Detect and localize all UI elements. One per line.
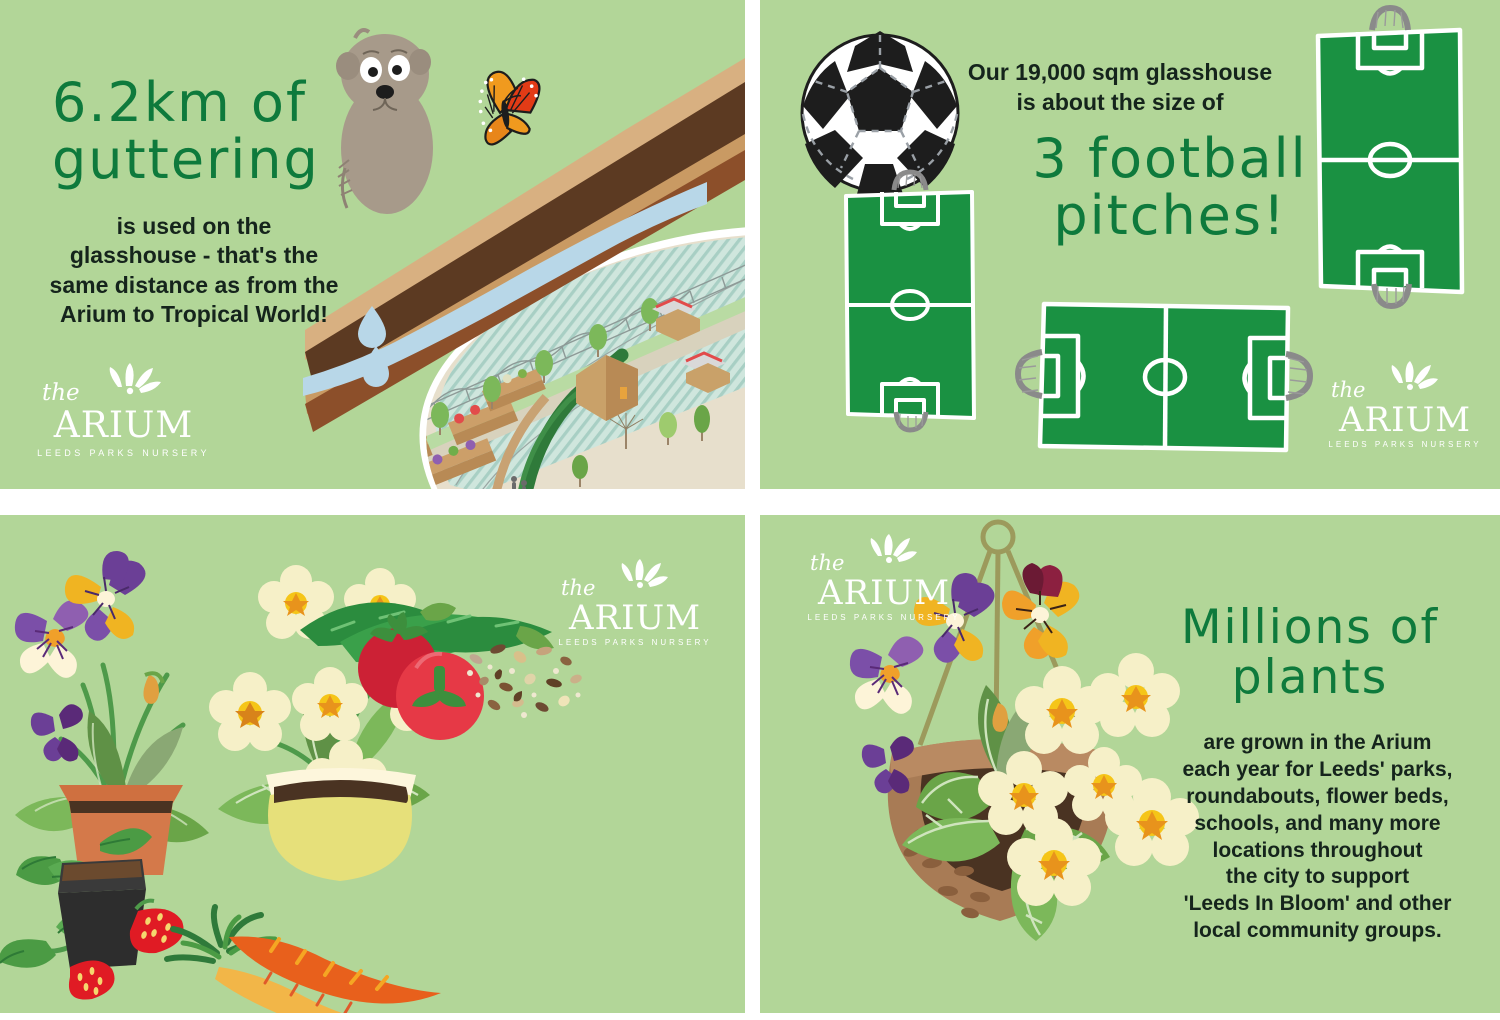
carrots-illustration <box>155 895 455 1013</box>
logo-leaf-icon <box>555 556 715 582</box>
logo-leaf-icon <box>804 531 964 557</box>
panel-millions-of-plants: Millions of plants are grown in the Ariu… <box>760 515 1500 1013</box>
panel-guttering-body: is used on the glasshouse - that's the s… <box>34 212 354 330</box>
pitch-vertical-left <box>830 180 990 430</box>
arium-logo: the ARIUM LEEDS PARKS NURSERY <box>804 531 964 622</box>
arium-logo: the ARIUM LEEDS PARKS NURSERY <box>555 556 715 647</box>
logo-tagline: LEEDS PARKS NURSERY <box>804 613 964 622</box>
panel-guttering-headline: 6.2km of guttering <box>52 74 320 188</box>
guttering-illustration <box>325 0 745 340</box>
meerkat-icon <box>336 30 433 214</box>
pitch-vertical-right <box>1300 10 1480 310</box>
panel-plants-body: are grown in the Arium each year for Lee… <box>1155 730 1480 945</box>
seeds-illustration <box>460 635 590 725</box>
football-icon <box>795 28 965 198</box>
logo-name: ARIUM <box>36 397 211 445</box>
infographic-grid: 6.2km of guttering is used on the glassh… <box>0 0 1500 1020</box>
arium-logo: the ARIUM LEEDS PARKS NURSERY <box>36 360 211 458</box>
logo-tagline: LEEDS PARKS NURSERY <box>555 638 715 647</box>
logo-name: ARIUM <box>1325 393 1485 437</box>
panel-football-pitches: Our 19,000 sqm glasshouse is about the s… <box>760 0 1500 489</box>
panel-guttering: 6.2km of guttering is used on the glassh… <box>0 0 745 489</box>
logo-name: ARIUM <box>555 591 715 635</box>
panel-plants-headline: Millions of plants <box>1130 603 1490 703</box>
logo-leaf-icon <box>1325 358 1485 384</box>
logo-leaf-icon <box>36 360 211 386</box>
panel-pitches-lead: Our 19,000 sqm glasshouse is about the s… <box>920 58 1320 118</box>
pitch-horizontal <box>1015 290 1315 489</box>
arium-logo: the ARIUM LEEDS PARKS NURSERY <box>1325 358 1485 449</box>
logo-tagline: LEEDS PARKS NURSERY <box>36 448 211 458</box>
butterfly-icon <box>474 66 547 145</box>
logo-name: ARIUM <box>804 566 964 610</box>
logo-tagline: LEEDS PARKS NURSERY <box>1325 440 1485 449</box>
panel-seeds-produce: The seeds grown in the Arium won't just … <box>0 515 745 1013</box>
water-drip-icon <box>352 300 412 390</box>
